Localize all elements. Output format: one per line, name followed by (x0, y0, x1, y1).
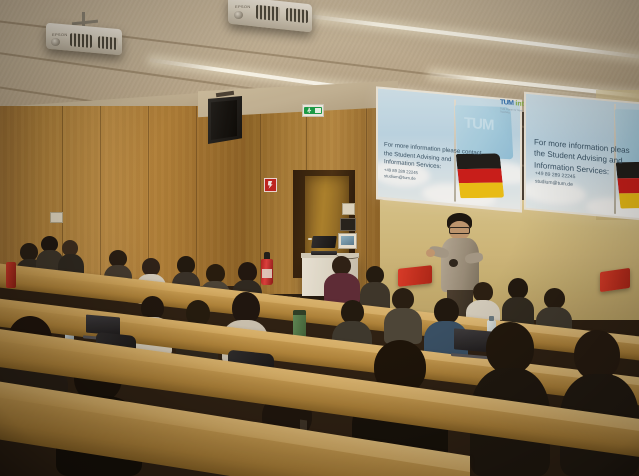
ceiling-projector-left: EPSON (46, 26, 122, 58)
logo-tum-text: TUM (500, 99, 513, 107)
projector-lens (234, 11, 243, 19)
presenter-hand-left (426, 249, 435, 257)
audience-person (324, 256, 360, 304)
wood-panel-seam (100, 106, 101, 286)
av-control-screen (341, 236, 354, 245)
speaker-grille (211, 100, 237, 140)
slide-flag-tum-mark: TUM (464, 114, 494, 134)
projector-vent (286, 8, 308, 23)
projector-vent (256, 5, 280, 22)
ceiling-speaker (208, 96, 242, 144)
person-head (508, 278, 528, 299)
extinguisher-label (262, 269, 272, 278)
av-control-panel[interactable] (338, 233, 357, 249)
person-torso (384, 308, 422, 344)
person-head (486, 322, 534, 374)
lecture-hall-photo: EPSON EPSON (0, 0, 639, 476)
fire-flame-icon (267, 181, 273, 189)
person-head (473, 282, 493, 302)
emergency-exit-sign (302, 104, 324, 117)
projector-brand-label: EPSON (52, 32, 68, 37)
presenter-glasses (449, 227, 470, 234)
person-head (574, 330, 620, 380)
projector-vent (70, 33, 92, 48)
laptop-screen (311, 236, 337, 248)
red-chair-right[interactable] (600, 268, 630, 292)
person-head (392, 288, 414, 310)
presenter-arm-right (464, 252, 483, 265)
flag-band-gold (459, 183, 504, 198)
wall-plate[interactable] (342, 203, 355, 215)
bottle-cap (489, 316, 495, 321)
exit-sign-graphic (304, 107, 321, 115)
red-thermos[interactable] (6, 262, 16, 288)
person-head (238, 262, 257, 282)
laptop-keyboard-base (311, 251, 338, 255)
projection-screen-right: For more information pleas the Student A… (526, 94, 639, 219)
wall-switch-plate[interactable] (50, 212, 63, 223)
thermos-cap (293, 310, 306, 315)
audience-person (384, 288, 422, 344)
ceiling-projector-right: EPSON (228, 0, 312, 34)
projection-screen-left: TUM For more information please contact … (378, 89, 520, 210)
wall-equipment-box (340, 218, 356, 231)
fire-extinguisher (261, 252, 273, 285)
lectern-laptop[interactable] (312, 236, 336, 255)
person-head (544, 288, 565, 309)
presenter-held-device[interactable] (449, 259, 458, 267)
red-chair-seat[interactable] (398, 265, 432, 287)
flag-band-gold (619, 193, 639, 209)
projector-lens (51, 38, 60, 46)
logo-int-text: int (515, 100, 524, 108)
fire-extinguisher-sign (264, 178, 277, 192)
exit-door-icon (315, 108, 320, 114)
projector-vent (98, 36, 118, 50)
projector-brand-label: EPSON (235, 4, 251, 9)
exit-running-man-icon (307, 107, 311, 113)
